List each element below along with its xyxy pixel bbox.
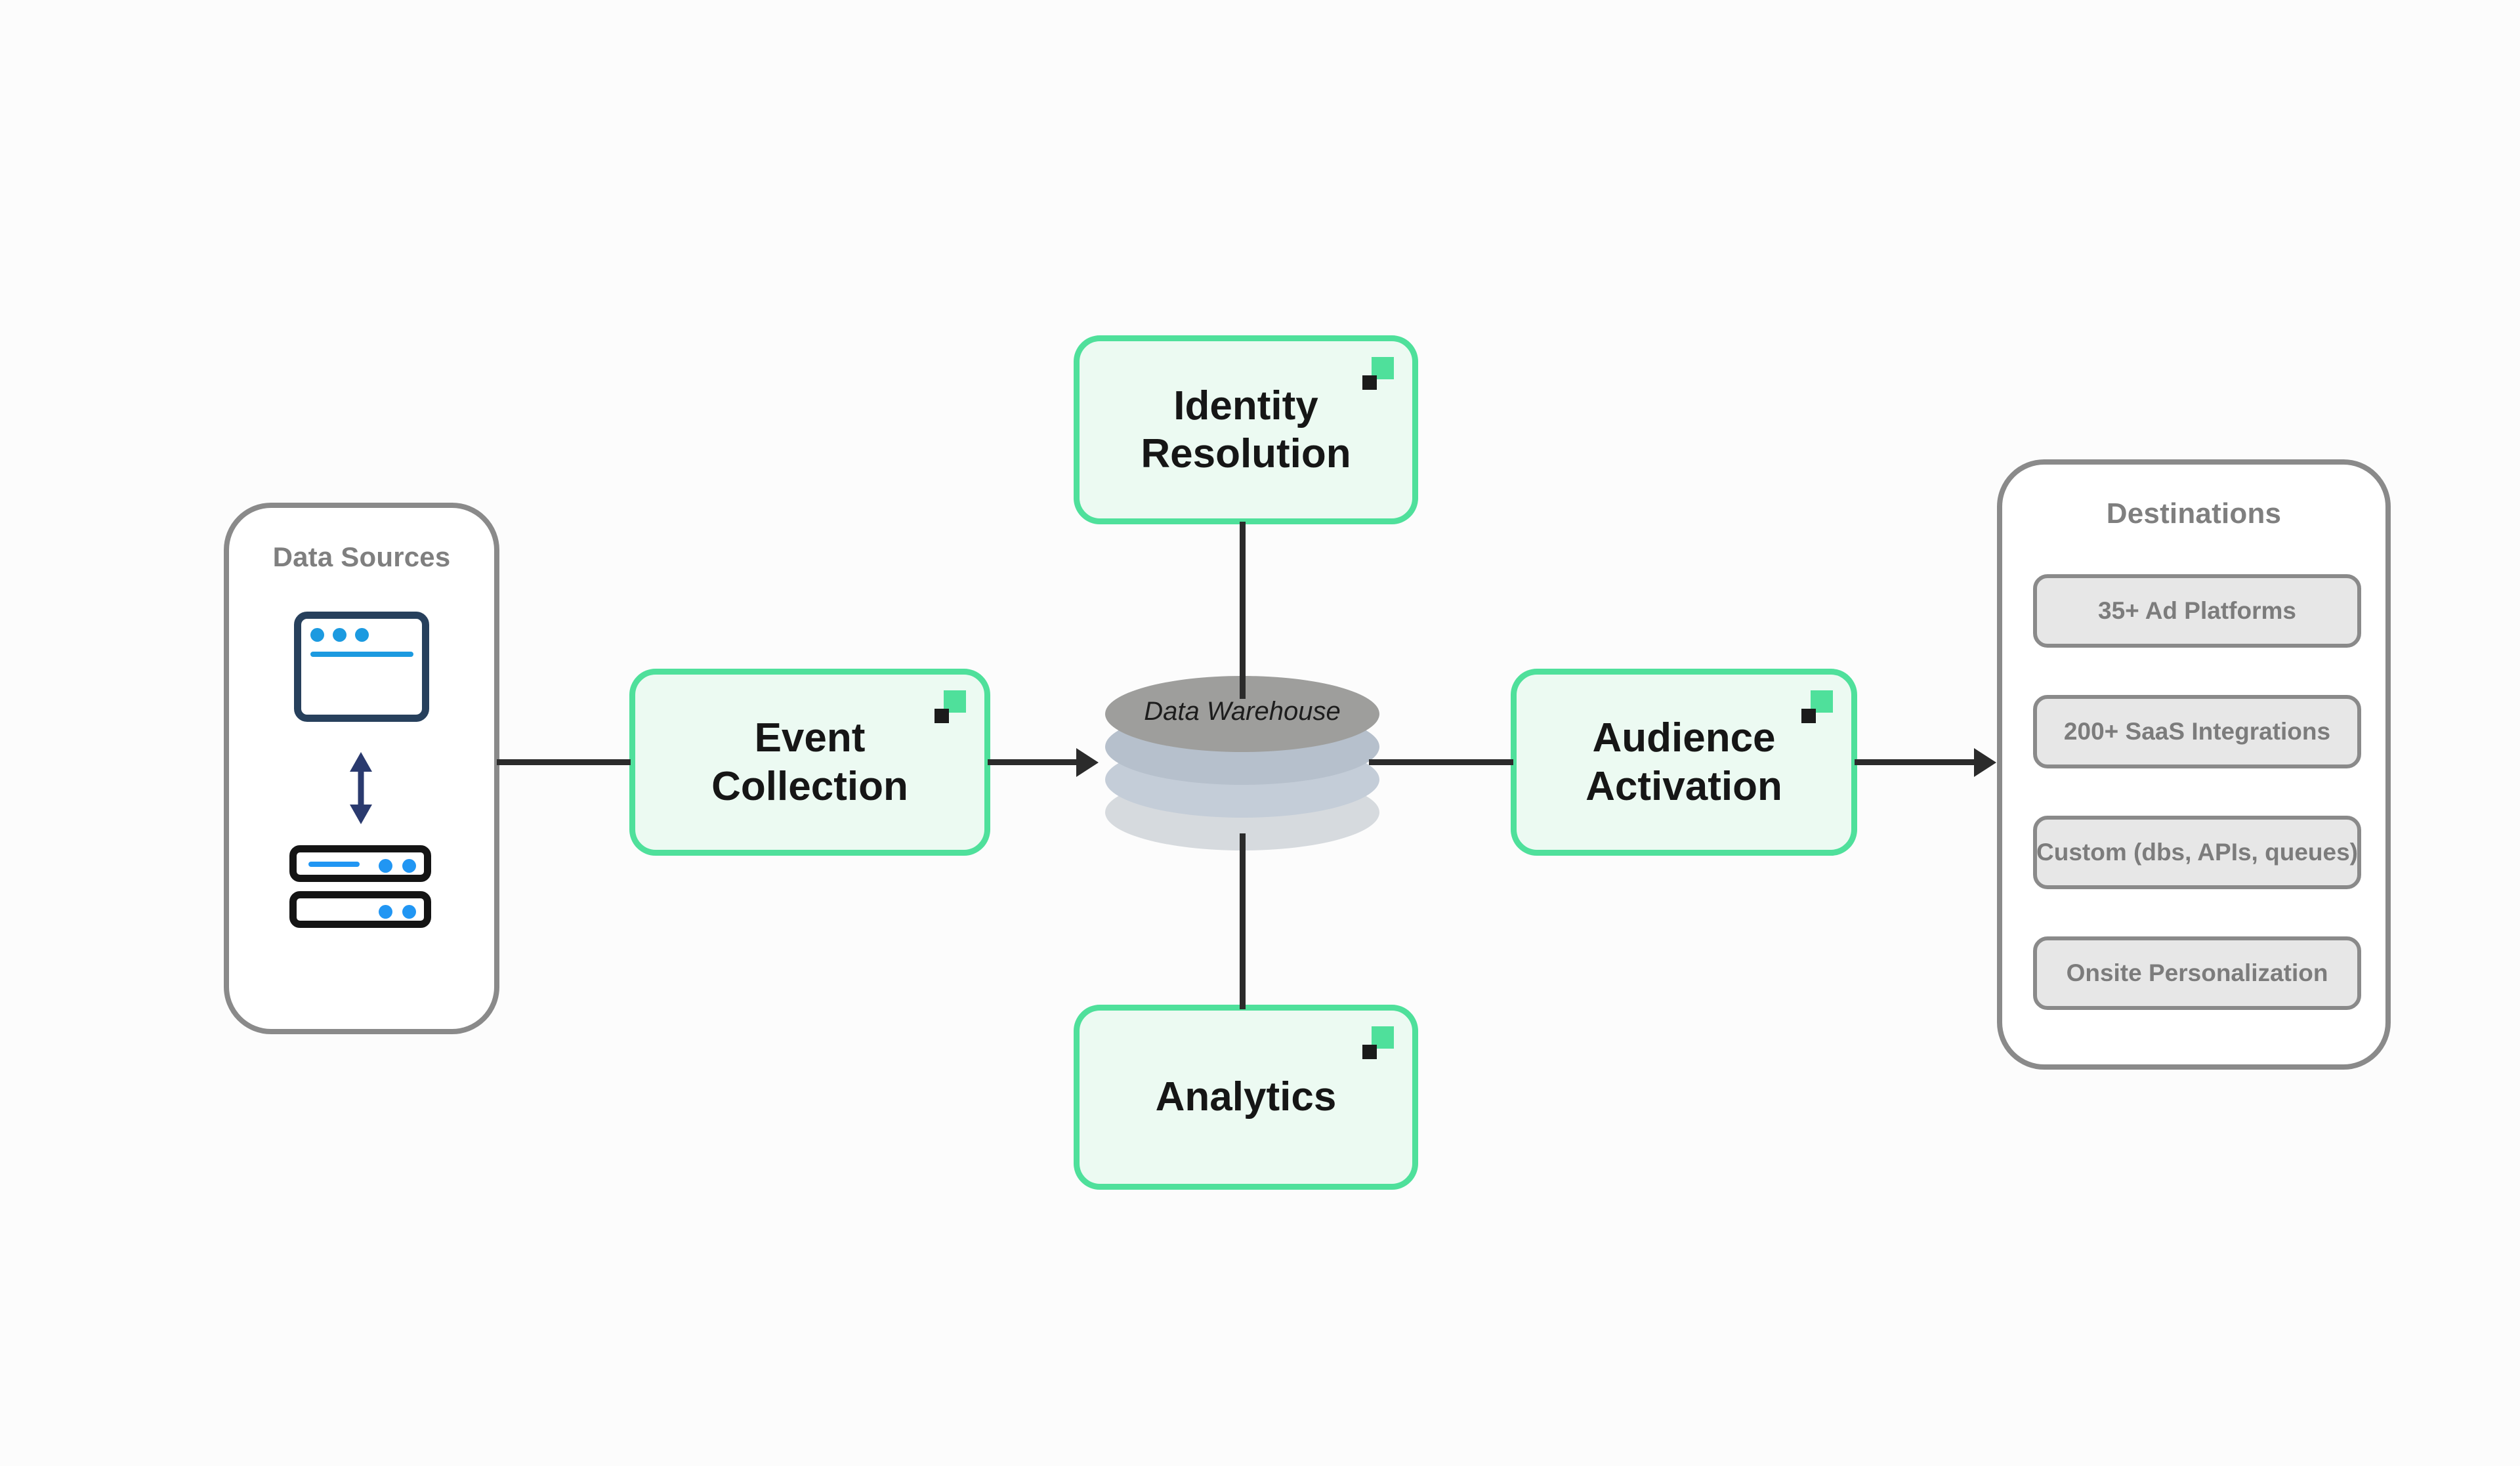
event-collection-badge-icon <box>934 690 966 723</box>
server-led <box>379 859 392 873</box>
data-sources-title: Data Sources <box>224 541 499 573</box>
server-led <box>402 859 416 873</box>
destination-chip-ad-platforms[interactable]: 35+ Ad Platforms <box>2033 574 2361 648</box>
destination-chip-label: Onsite Personalization <box>2067 959 2328 987</box>
server-status-line <box>308 862 360 867</box>
event-collection-box[interactable]: Event Collection <box>629 669 990 856</box>
destination-chip-custom[interactable]: Custom (dbs, APIs, queues) <box>2033 816 2361 889</box>
arrowhead-to-warehouse <box>1076 748 1099 777</box>
destination-chip-saas-integrations[interactable]: 200+ SaaS Integrations <box>2033 695 2361 768</box>
diagram-canvas: Data Sources Event Collection Identity R… <box>0 0 2520 1466</box>
arrowhead-to-destinations <box>1974 748 1996 777</box>
destination-chip-label: 200+ SaaS Integrations <box>2064 718 2330 745</box>
analytics-badge-icon <box>1362 1026 1394 1059</box>
browser-dot <box>355 628 369 642</box>
server-rack-bar-bottom <box>289 891 431 928</box>
bidirectional-arrow-icon <box>346 752 376 824</box>
browser-address-line <box>310 652 413 657</box>
analytics-box[interactable]: Analytics <box>1074 1005 1418 1190</box>
audience-activation-label: Audience Activation <box>1585 714 1782 810</box>
browser-dot <box>310 628 324 642</box>
connector-warehouse-to-analytics <box>1240 833 1246 1009</box>
identity-resolution-box[interactable]: Identity Resolution <box>1074 335 1418 524</box>
server-rack-bar-top <box>289 845 431 882</box>
identity-resolution-label: Identity Resolution <box>1141 382 1351 478</box>
destinations-title: Destinations <box>1997 497 2391 530</box>
server-led <box>379 905 392 919</box>
event-collection-label: Event Collection <box>711 714 908 810</box>
connector-warehouse-to-audience-activation <box>1369 759 1513 765</box>
browser-dot <box>333 628 346 642</box>
connector-event-collection-to-warehouse <box>988 759 1080 765</box>
identity-resolution-badge-icon <box>1362 357 1394 390</box>
destination-chip-label: 35+ Ad Platforms <box>2098 597 2296 625</box>
audience-activation-badge-icon <box>1801 690 1833 723</box>
connector-identity-resolution-to-warehouse <box>1240 522 1246 699</box>
connector-audience-activation-to-destinations <box>1855 759 1978 765</box>
connector-sources-to-event-collection <box>497 759 631 765</box>
server-led <box>402 905 416 919</box>
warehouse-label: Data Warehouse <box>1105 697 1379 726</box>
analytics-label: Analytics <box>1156 1073 1337 1121</box>
audience-activation-box[interactable]: Audience Activation <box>1511 669 1857 856</box>
destination-chip-onsite-personalization[interactable]: Onsite Personalization <box>2033 936 2361 1010</box>
destination-chip-label: Custom (dbs, APIs, queues) <box>2036 839 2358 866</box>
browser-window-icon <box>294 612 429 722</box>
